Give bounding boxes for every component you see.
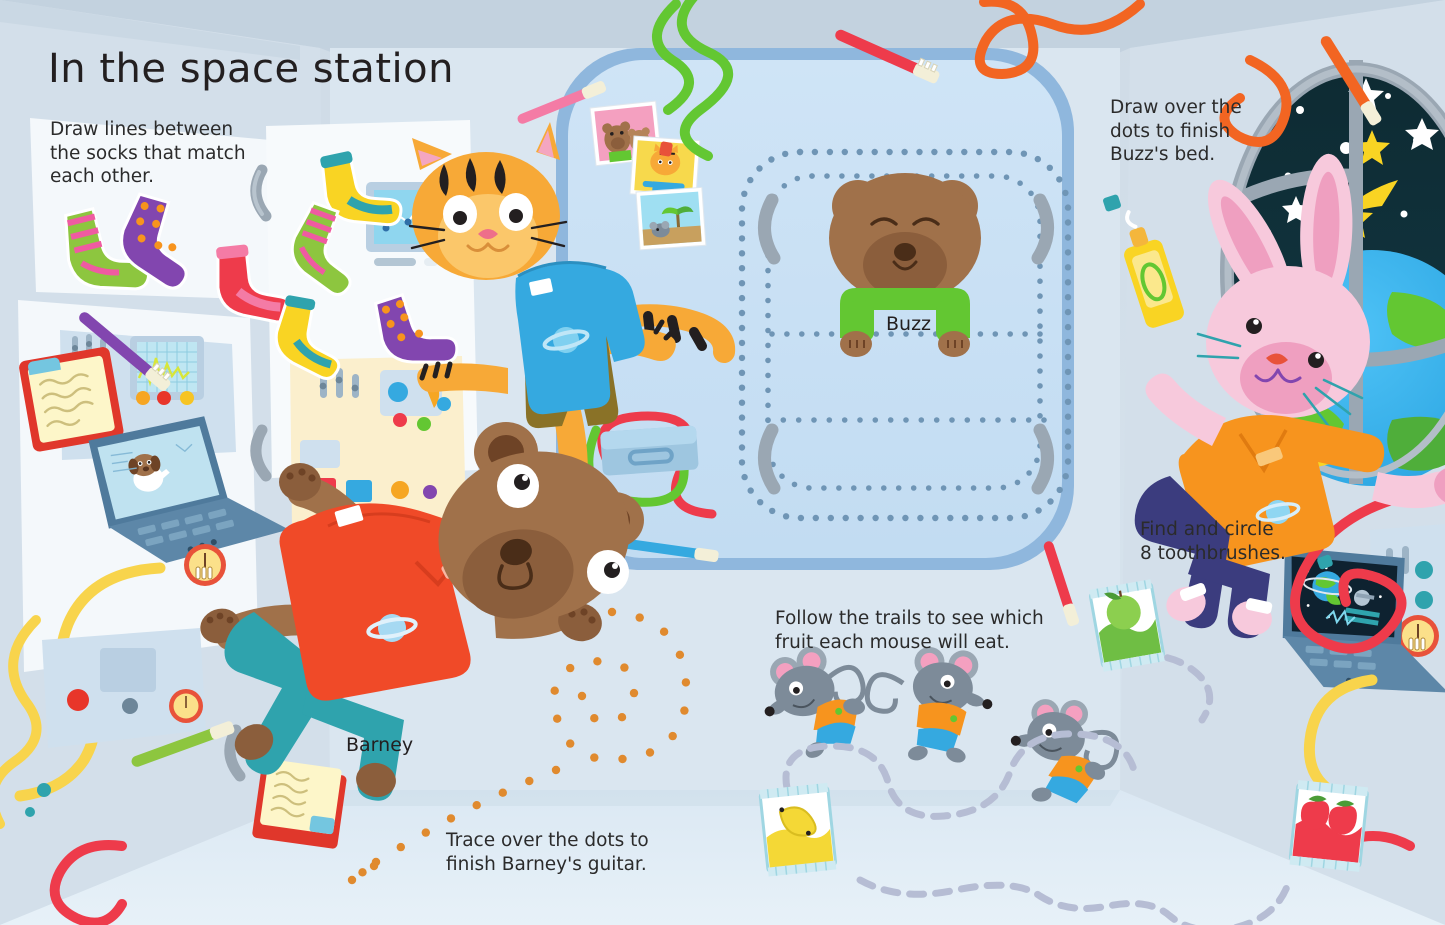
apple-packet (1089, 579, 1164, 672)
character-label-buzz: Buzz (886, 312, 931, 336)
instruction-socks: Draw lines between the socks that match … (50, 118, 246, 189)
character-label-barney: Barney (346, 733, 413, 757)
instruction-toothbrushes: Find and circle 8 toothbrushes. (1140, 518, 1286, 565)
banana-packet (760, 783, 837, 877)
instruction-trails: Follow the trails to see which fruit eac… (775, 607, 1044, 654)
dial-left (184, 544, 226, 586)
strawberry-packet (1290, 780, 1369, 872)
bed-panel (556, 0, 1074, 570)
storage-box (600, 425, 699, 476)
instruction-bed: Draw over the dots to finish Buzz's bed. (1110, 96, 1242, 167)
activity-page: In the space station Draw lines between … (0, 0, 1445, 925)
dial-left-2 (169, 689, 203, 723)
page-title: In the space station (48, 44, 454, 95)
instruction-guitar: Trace over the dots to finish Barney's g… (446, 829, 649, 876)
photo-mouse (636, 187, 706, 249)
